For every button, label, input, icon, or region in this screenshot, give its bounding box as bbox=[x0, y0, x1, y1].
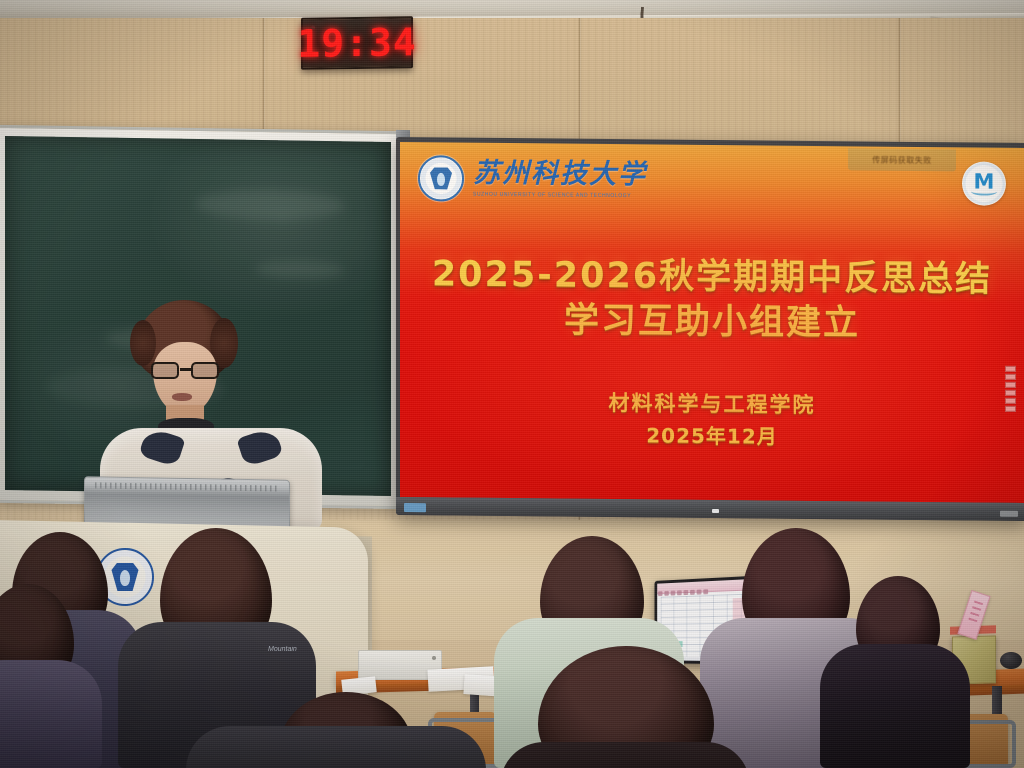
student-torso-foreground bbox=[500, 742, 750, 768]
university-brand: 苏州科技大学 SUZHOU UNIVERSITY OF SCIENCE AND … bbox=[418, 155, 647, 203]
secondary-logo-badge: M bbox=[962, 161, 1006, 205]
toolbar-icon[interactable] bbox=[664, 591, 669, 596]
display-model-mark bbox=[1000, 511, 1018, 517]
toolbar-icon[interactable] bbox=[697, 589, 702, 594]
presentation-slide: 传屏码获取失败 苏州科技大学 SUZHOU UNIVERSITY OF SCIE… bbox=[400, 142, 1024, 503]
display-power-indicator bbox=[712, 509, 719, 513]
chalk-smudge bbox=[195, 189, 345, 221]
student-torso-black-coat bbox=[820, 644, 970, 768]
slide-title-line2: 学习互助小组建立 bbox=[400, 297, 1024, 348]
toolbar-button[interactable] bbox=[1005, 382, 1016, 388]
classroom-photo: 19:34 传屏码获取失败 苏州科技大学 SUZHOU UNIVERSITY O… bbox=[0, 0, 1024, 768]
slide-subtitle-date: 2025年12月 bbox=[400, 418, 1024, 454]
toolbar-icon[interactable] bbox=[671, 591, 676, 596]
hoodie-text: Mountain bbox=[268, 646, 297, 653]
toolbar-icon[interactable] bbox=[684, 590, 689, 595]
toolbar-button[interactable] bbox=[1005, 366, 1016, 372]
presenter-glasses-icon bbox=[149, 362, 221, 380]
display-screen[interactable]: 传屏码获取失败 苏州科技大学 SUZHOU UNIVERSITY OF SCIE… bbox=[400, 142, 1024, 503]
presentation-display[interactable]: 传屏码获取失败 苏州科技大学 SUZHOU UNIVERSITY OF SCIE… bbox=[396, 137, 1024, 521]
glasses-right-lens bbox=[191, 362, 219, 379]
slide-title-block: 2025-2026秋学期期中反思总结 学习互助小组建立 bbox=[400, 252, 1024, 348]
toolbar-icon[interactable] bbox=[690, 590, 695, 595]
toolbar-icon[interactable] bbox=[703, 589, 708, 594]
screencast-status-text: 传屏码获取失败 bbox=[872, 154, 932, 166]
slide-side-toolbar[interactable] bbox=[1005, 366, 1016, 412]
wall-clock: 19:34 bbox=[301, 16, 413, 70]
slide-title-line1: 2025-2026秋学期期中反思总结 bbox=[400, 252, 1024, 303]
desk-puck-object bbox=[1000, 652, 1022, 669]
university-seal-icon bbox=[418, 155, 464, 201]
slide-subtitle-block: 材料科学与工程学院 2025年12月 bbox=[400, 386, 1024, 453]
glasses-bridge bbox=[180, 368, 191, 371]
presenter-mouth bbox=[172, 393, 192, 401]
badge-wave-icon bbox=[971, 187, 997, 195]
clock-time: 19:34 bbox=[297, 23, 416, 63]
toolbar-button[interactable] bbox=[1005, 398, 1016, 404]
clock-led-indicator bbox=[311, 26, 315, 30]
chalk-smudge bbox=[255, 260, 345, 279]
toolbar-button[interactable] bbox=[1005, 374, 1016, 380]
glasses-left-lens bbox=[151, 362, 179, 379]
university-name-en: SUZHOU UNIVERSITY OF SCIENCE AND TECHNOL… bbox=[473, 192, 647, 200]
student-torso-purple bbox=[0, 660, 102, 768]
university-name: 苏州科技大学 bbox=[473, 160, 647, 189]
toolbar-icon[interactable] bbox=[658, 591, 662, 596]
student-torso-dark bbox=[186, 726, 486, 768]
screencast-status-tab[interactable]: 传屏码获取失败 bbox=[848, 148, 956, 171]
display-brand-mark bbox=[404, 503, 426, 512]
toolbar-button[interactable] bbox=[1005, 390, 1016, 396]
toolbar-button[interactable] bbox=[1005, 406, 1016, 412]
toolbar-icon[interactable] bbox=[677, 590, 682, 595]
monitor-vents bbox=[95, 482, 279, 491]
